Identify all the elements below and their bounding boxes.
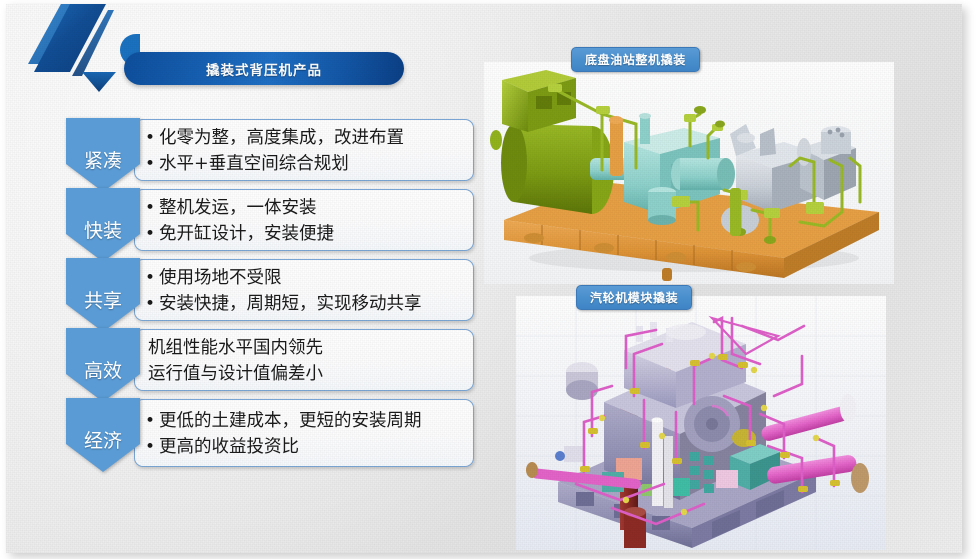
feature-row: 共享 使用场地不受限 安装快捷，周期短，实现移动共享: [66, 258, 486, 328]
feature-line: 更低的土建成本，更短的安装周期: [145, 408, 465, 434]
feature-line: 化零为整，高度集成，改进布置: [145, 125, 465, 151]
feature-line: 机组性能水平国内领先: [145, 335, 465, 361]
caption-text: 底盘油站整机撬装: [585, 51, 686, 68]
image-caption: 底盘油站整机撬装: [571, 47, 700, 72]
feature-line: 运行值与设计值偏差小: [145, 361, 465, 387]
feature-line: 整机发运，一体安装: [145, 195, 465, 221]
page-title: 撬装式背压机产品: [206, 59, 322, 79]
caption-text: 汽轮机模块撬装: [590, 289, 678, 306]
slide-title-pill: 撬装式背压机产品: [124, 52, 404, 85]
feature-line: 免开缸设计，安装便捷: [145, 221, 465, 247]
product-image-chassis-oil-station: [484, 62, 894, 284]
feature-row: 紧凑 化零为整，高度集成，改进布置 水平+垂直空间综合规划: [66, 118, 486, 188]
slide-canvas: 撬装式背压机产品 紧凑 化零为整，高度集成，改进布置 水平+垂直空间综合规划: [6, 4, 962, 553]
blue-parallelogram-arrow-logo-icon: [20, 4, 140, 94]
feature-line: 使用场地不受限: [145, 265, 465, 291]
feature-line: 安装快捷，周期短，实现移动共享: [145, 291, 465, 317]
product-image-turbine-module: [516, 296, 886, 550]
feature-text-box: 整机发运，一体安装 免开缸设计，安装便捷: [134, 189, 474, 251]
chevron-down-icon: 经济: [66, 398, 140, 486]
feature-text-box: 更低的土建成本，更短的安装周期 更高的收益投资比: [134, 399, 474, 467]
feature-text-box: 机组性能水平国内领先 运行值与设计值偏差小: [134, 329, 474, 391]
feature-row: 经济 更低的土建成本，更短的安装周期 更高的收益投资比: [66, 398, 486, 470]
feature-line: 水平+垂直空间综合规划: [145, 151, 465, 177]
feature-line: 更高的收益投资比: [145, 434, 465, 460]
feature-list: 紧凑 化零为整，高度集成，改进布置 水平+垂直空间综合规划 快装 整机发运，一体…: [66, 118, 486, 470]
image-caption: 汽轮机模块撬装: [576, 285, 692, 310]
feature-text-box: 使用场地不受限 安装快捷，周期短，实现移动共享: [134, 259, 474, 321]
feature-row: 高效 机组性能水平国内领先 运行值与设计值偏差小: [66, 328, 486, 398]
feature-text-box: 化零为整，高度集成，改进布置 水平+垂直空间综合规划: [134, 119, 474, 181]
feature-row: 快装 整机发运，一体安装 免开缸设计，安装便捷: [66, 188, 486, 258]
